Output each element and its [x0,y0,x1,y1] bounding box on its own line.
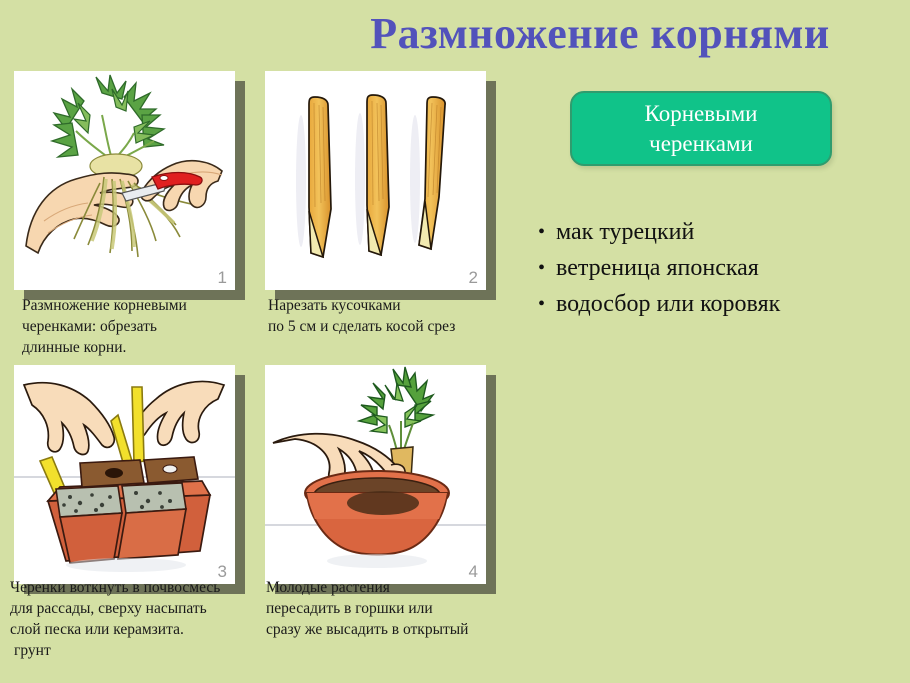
figure-4-caption: Молодые растения пересадить в горшки или… [266,577,526,640]
figure-3-number: 3 [218,562,227,582]
list-item-label: ветреница японская [556,250,908,286]
list-item-label: мак турецкий [556,214,908,250]
callout-box: Корневыми черенками [570,91,832,166]
bullet-marker-icon: • [538,286,556,322]
figure-2-number: 2 [469,268,478,288]
callout-text: Корневыми черенками [645,99,758,159]
potting-young-plant-illustration [265,365,486,584]
seed-tray-planting-illustration [14,365,235,584]
list-item: • мак турецкий [538,214,908,250]
bullet-marker-icon: • [538,250,556,286]
figure-4-image: 4 [265,365,486,584]
figure-2-caption: Нарезать кусочками по 5 см и сделать кос… [268,295,518,337]
bullet-marker-icon: • [538,214,556,250]
figure-1-image: 1 [14,71,235,290]
list-item: • ветреница японская [538,250,908,286]
page-title: Размножение корнями [300,8,900,60]
figure-3-caption: Черенки воткнуть в почвосмесь для рассад… [10,577,275,640]
slide-root: Размножение корнями [0,0,910,683]
figure-1-caption: Размножение корневыми черенками: обрезат… [22,295,262,358]
figure-4-number: 4 [469,562,478,582]
figure-1-number: 1 [218,268,227,288]
list-item-label: водосбор или коровяк [556,286,908,322]
bullet-list: • мак турецкий • ветреница японская • во… [538,214,908,322]
root-cuttings-illustration [265,71,486,290]
plant-root-cutting-illustration [14,71,235,290]
figure-3-image: 3 [14,365,235,584]
figure-2-image: 2 [265,71,486,290]
list-item: • водосбор или коровяк [538,286,908,322]
figure-3-caption-extra: грунт [14,640,51,661]
